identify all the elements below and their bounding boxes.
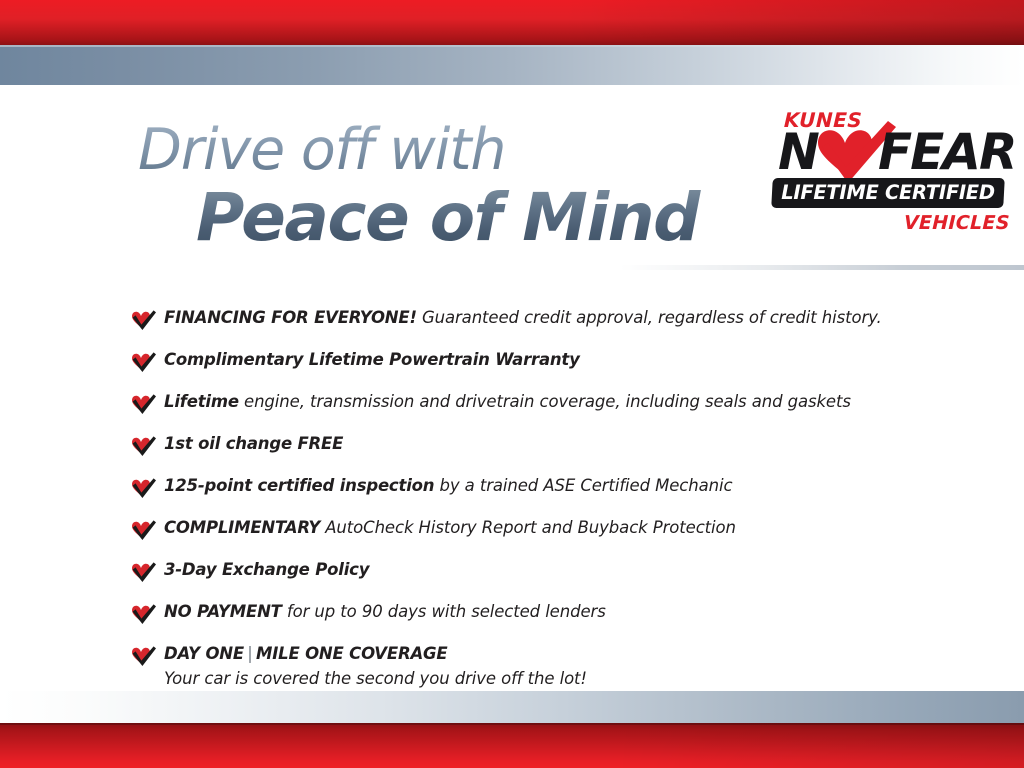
- logo-divider-line: [620, 265, 1024, 270]
- list-item-strong: Complimentary Lifetime Powertrain Warran…: [164, 350, 580, 369]
- promotional-banner: Drive off with Peace of Mind KUNES N FEA…: [0, 0, 1024, 768]
- headline-line-1: Drive off with: [138, 122, 758, 179]
- list-item: COMPLIMENTARY AutoCheck History Report a…: [130, 517, 990, 549]
- heart-check-bullet-icon: [130, 435, 157, 457]
- benefits-list: FINANCING FOR EVERYONE! Guaranteed credi…: [130, 307, 990, 700]
- bottom-gray-stripe: [0, 691, 1024, 723]
- list-item-text: engine, transmission and drivetrain cove…: [239, 392, 851, 411]
- list-item-strong: 125-point certified inspection: [164, 476, 434, 495]
- heart-check-bullet-icon: [130, 561, 157, 583]
- list-item-strong: NO PAYMENT: [164, 602, 282, 621]
- heart-check-bullet-icon: [130, 603, 157, 625]
- logo-word-fear: FEAR: [878, 127, 1016, 177]
- heart-check-bullet-icon: [130, 351, 157, 373]
- list-item-text: AutoCheck History Report and Buyback Pro…: [320, 518, 736, 537]
- list-item-text: by a trained ASE Certified Mechanic: [434, 476, 732, 495]
- list-item-strong: DAY ONE: [164, 644, 244, 663]
- list-item-strong: COMPLIMENTARY: [164, 518, 320, 537]
- heart-check-bullet-icon: [130, 309, 157, 331]
- list-item-text: for up to 90 days with selected lenders: [282, 602, 606, 621]
- list-item-subtext: Your car is covered the second you drive…: [164, 668, 990, 690]
- list-item: FINANCING FOR EVERYONE! Guaranteed credi…: [130, 307, 990, 339]
- logo-vehicles-text: VEHICLES: [904, 212, 1011, 234]
- list-item-separator: |: [244, 644, 256, 663]
- logo-certified-bar-text: LIFETIME CERTIFIED: [772, 178, 1004, 208]
- heart-check-bullet-icon: [130, 519, 157, 541]
- heart-check-bullet-icon: [130, 477, 157, 499]
- heart-check-bullet-icon: [130, 393, 157, 415]
- list-item-strong: 1st oil change FREE: [164, 434, 343, 453]
- headline-line-2: Peace of Mind: [196, 185, 758, 251]
- list-item-strong-2: MILE ONE COVERAGE: [256, 644, 447, 663]
- top-red-stripe: [0, 0, 1024, 45]
- top-gray-stripe: [0, 45, 1024, 85]
- list-item: 3-Day Exchange Policy: [130, 559, 990, 591]
- list-item: 125-point certified inspection by a trai…: [130, 475, 990, 507]
- list-item: NO PAYMENT for up to 90 days with select…: [130, 601, 990, 633]
- kunes-no-fear-logo: KUNES N FEAR LIFETIME CERTIFIED VEHICLES: [772, 108, 1012, 248]
- list-item: DAY ONE|MILE ONE COVERAGE Your car is co…: [130, 643, 990, 690]
- heart-check-bullet-icon: [130, 645, 157, 667]
- list-item-strong: 3-Day Exchange Policy: [164, 560, 369, 579]
- bottom-red-stripe: [0, 723, 1024, 768]
- list-item-text: Guaranteed credit approval, regardless o…: [417, 308, 882, 327]
- list-item: Complimentary Lifetime Powertrain Warran…: [130, 349, 990, 381]
- list-item: Lifetime engine, transmission and drivet…: [130, 391, 990, 423]
- list-item: 1st oil change FREE: [130, 433, 990, 465]
- list-item-strong: FINANCING FOR EVERYONE!: [164, 308, 417, 327]
- headline-block: Drive off with Peace of Mind: [138, 122, 758, 251]
- list-item-strong: Lifetime: [164, 392, 239, 411]
- logo-no-fear-wordmark: N FEAR: [778, 127, 1010, 179]
